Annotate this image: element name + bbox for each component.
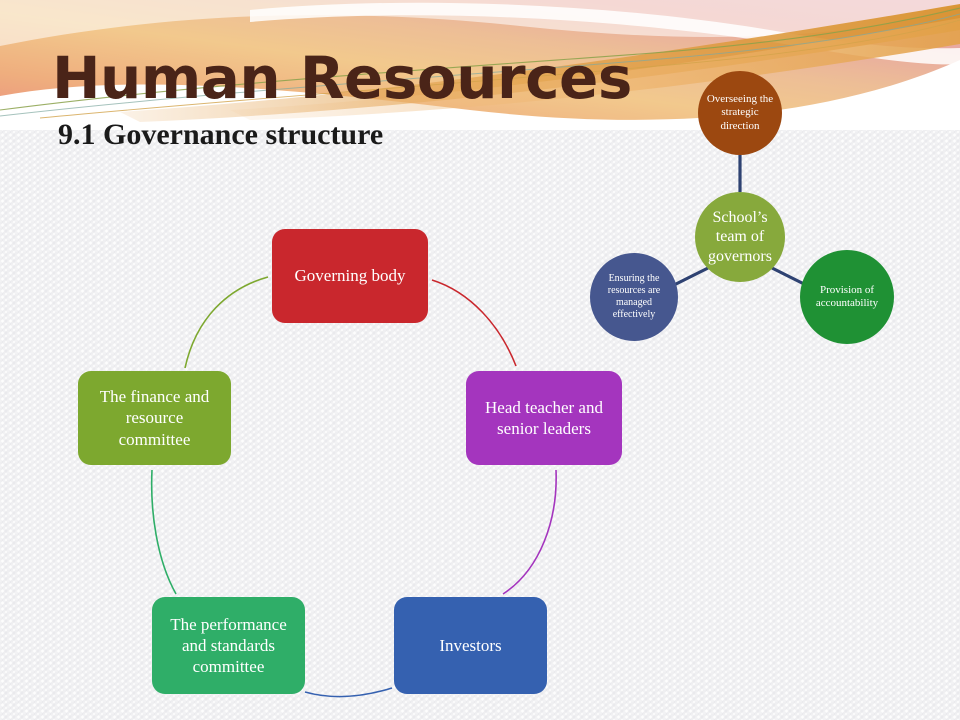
cycle-node-finance-committee[interactable]: The finance and resource committee <box>78 371 231 465</box>
cycle-node-investors[interactable]: Investors <box>394 597 547 694</box>
cycle-node-governing-body[interactable]: Governing body <box>272 229 428 323</box>
radial-node-overseeing-strategic-direction[interactable]: Overseeing the strategic direction <box>698 71 782 155</box>
page-title: Human Resources <box>52 44 632 112</box>
page-subtitle: 9.1 Governance structure <box>58 118 383 152</box>
cycle-node-head-teacher[interactable]: Head teacher and senior leaders <box>466 371 622 465</box>
cycle-node-performance-committee[interactable]: The performance and standards committee <box>152 597 305 694</box>
radial-node-ensuring-resources-managed[interactable]: Ensuring the resources are managed effec… <box>590 253 678 341</box>
radial-node-school-governors[interactable]: School’s team of governors <box>695 192 785 282</box>
radial-node-provision-of-accountability[interactable]: Provision of accountability <box>800 250 894 344</box>
powerpoint-slide: Human Resources 9.1 Governance structure… <box>0 0 960 720</box>
